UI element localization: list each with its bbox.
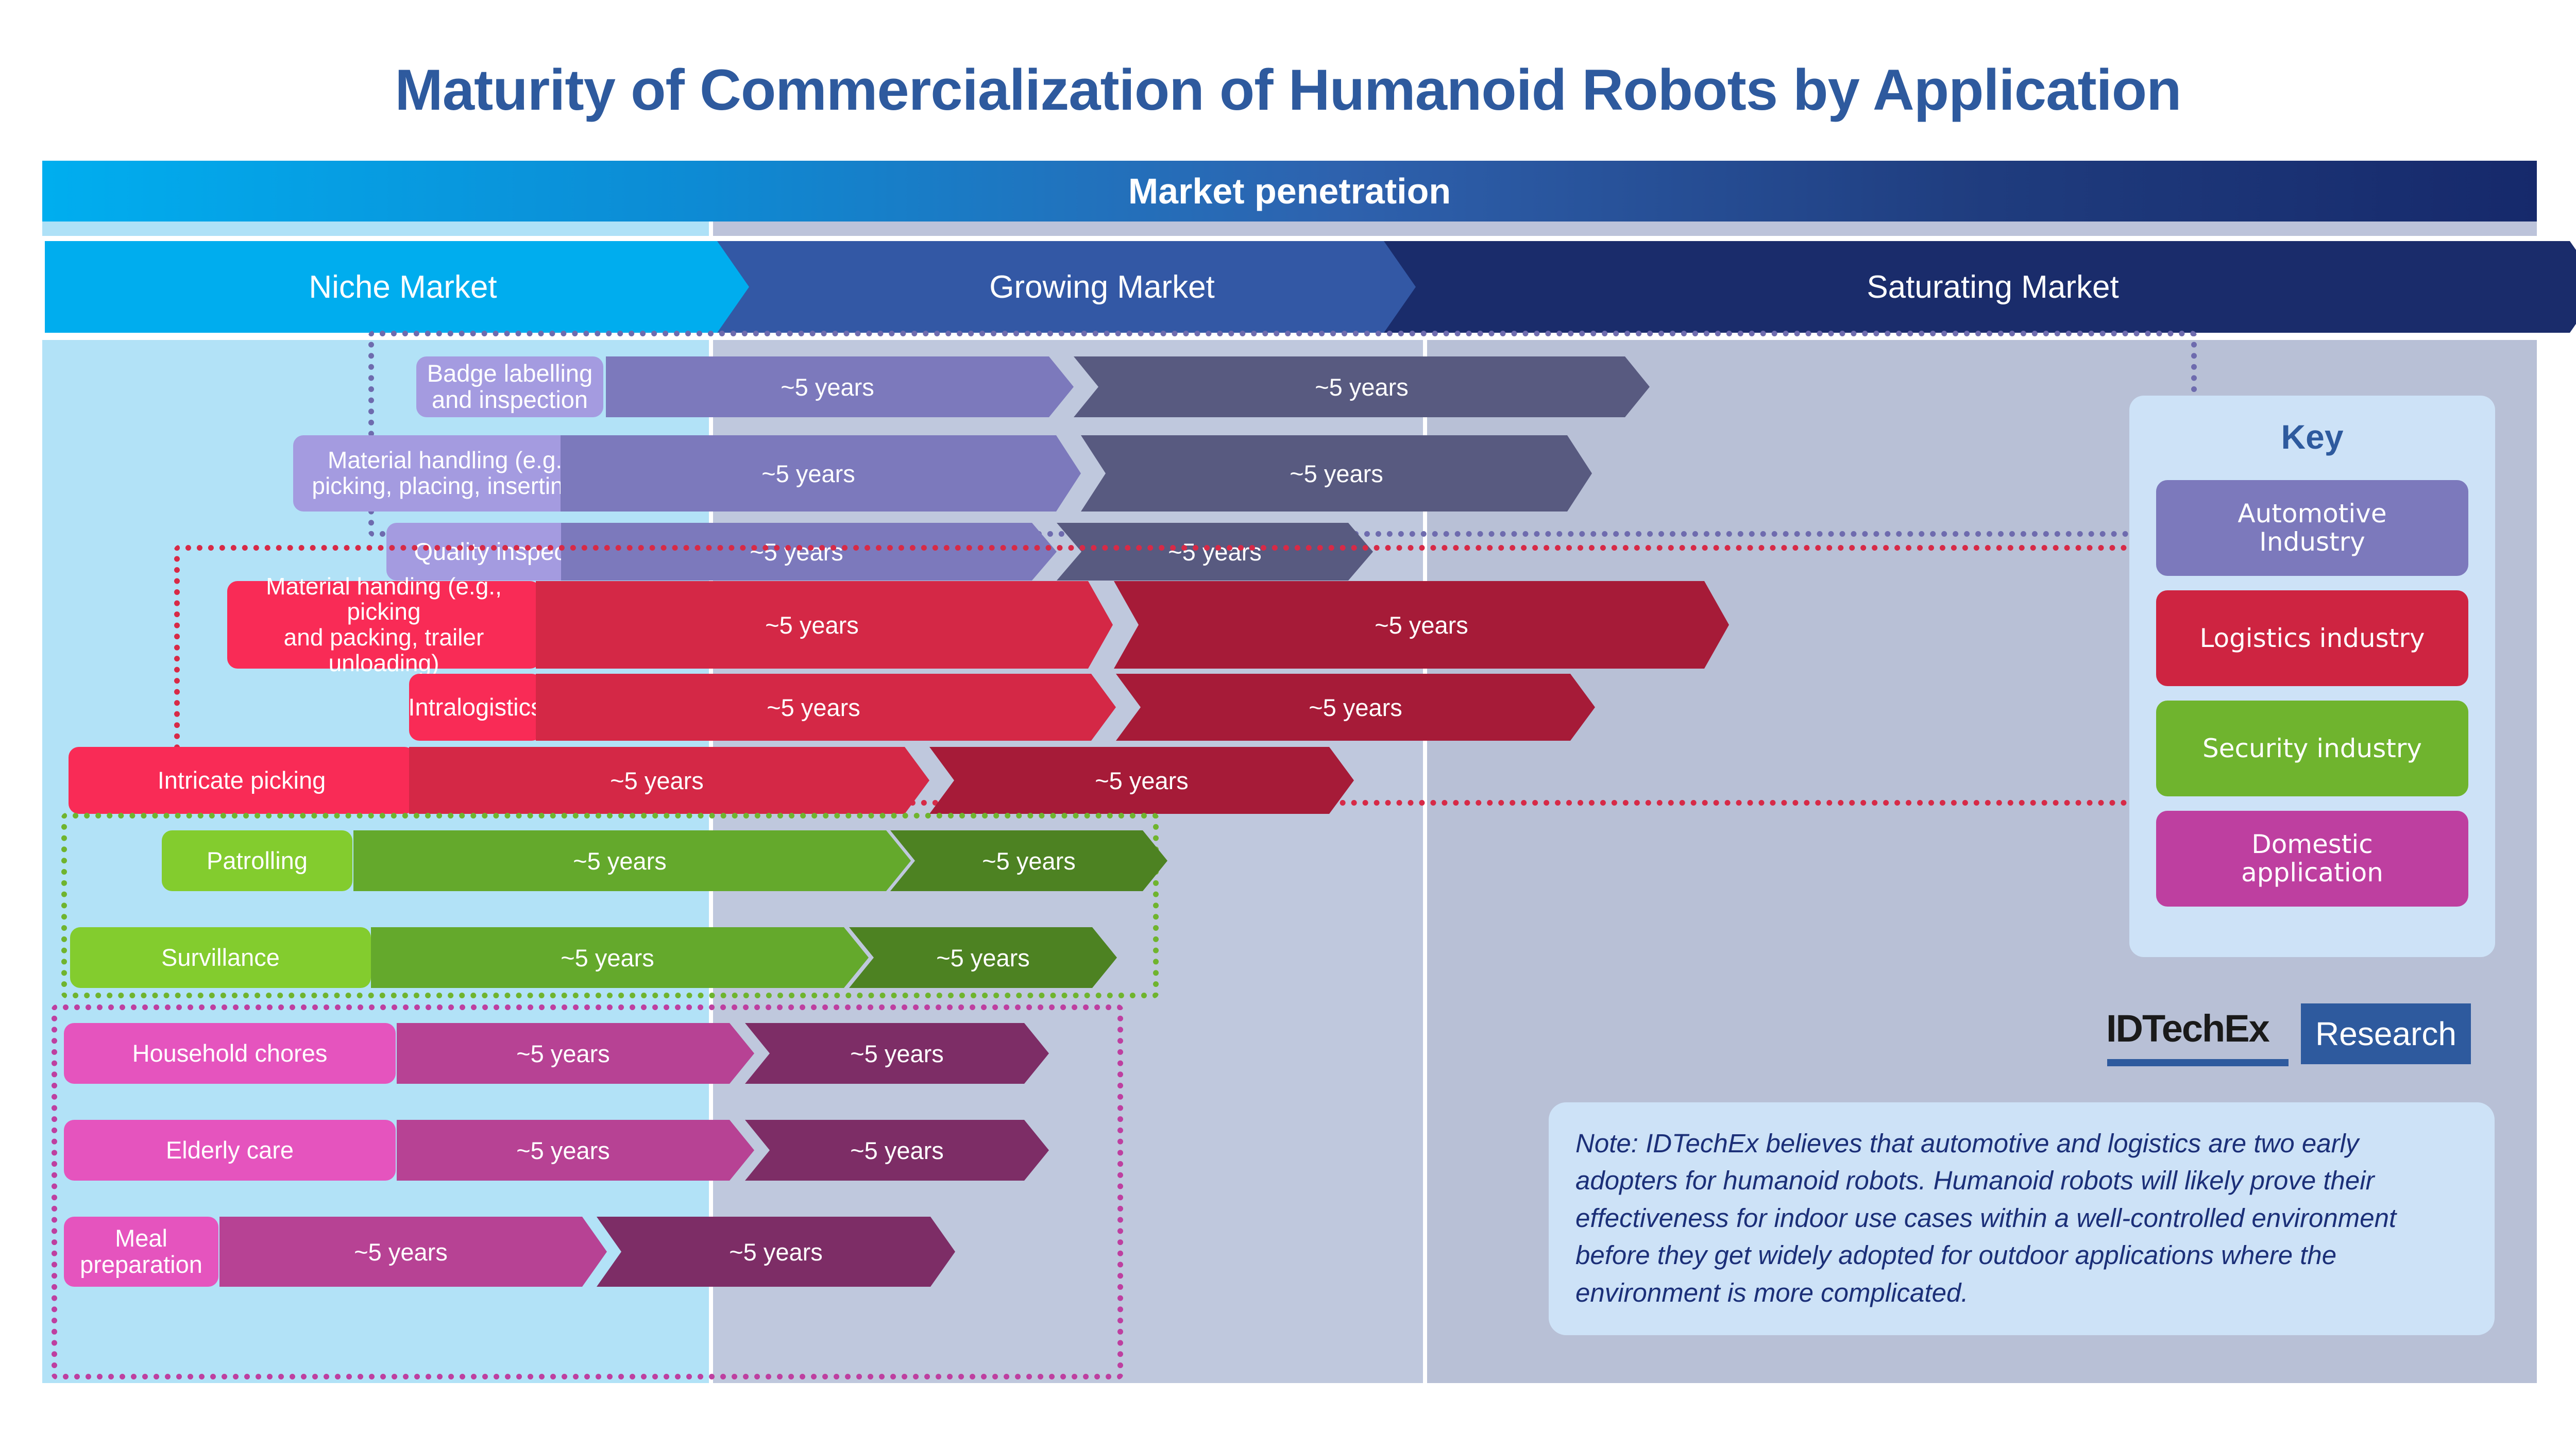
- idtechex-logo[interactable]: IDTechEx Research: [2106, 1003, 2518, 1076]
- row-label-patrolling: Patrolling: [162, 830, 352, 891]
- logo-research-badge: Research: [2301, 1003, 2471, 1064]
- row-label-intralogistics: Intralogistics: [409, 674, 542, 741]
- stage-chevron-saturating[interactable]: Saturating Market: [1384, 241, 2576, 333]
- row-segment-growing: ~5 years: [371, 927, 869, 988]
- stage-chevron-niche[interactable]: Niche Market: [45, 241, 793, 333]
- row-label-meal-preparation: Mealpreparation: [64, 1217, 218, 1287]
- stage-chevron-growing[interactable]: Growing Market: [717, 241, 1487, 333]
- row-segment-growing: ~5 years: [219, 1217, 607, 1287]
- row-segment-saturating: ~5 years: [597, 1217, 955, 1287]
- key-item-domestic[interactable]: Domesticapplication: [2156, 811, 2468, 907]
- row-segment-saturating: ~5 years: [1074, 356, 1650, 417]
- row-segment-growing: ~5 years: [561, 435, 1081, 512]
- row-segment-growing: ~5 years: [606, 356, 1074, 417]
- row-segment-growing: ~5 years: [397, 1120, 754, 1181]
- key-item-security[interactable]: Security industry: [2156, 701, 2468, 796]
- strip-niche: [42, 221, 709, 236]
- page-title: Maturity of Commercialization of Humanoi…: [0, 57, 2576, 123]
- key-item-automotive[interactable]: AutomotiveIndustry: [2156, 480, 2468, 576]
- logo-wordmark: IDTechEx: [2106, 1007, 2269, 1050]
- stage-label-growing: Growing Market: [989, 269, 1215, 305]
- logo-underline: [2107, 1059, 2289, 1066]
- row-segment-saturating: ~5 years: [849, 927, 1117, 988]
- row-segment-saturating: ~5 years: [1116, 674, 1595, 741]
- row-segment-saturating: ~5 years: [1114, 581, 1729, 669]
- row-label-material-handling-auto: Material handling (e.g.,picking, placing…: [293, 435, 603, 512]
- market-penetration-label: Market penetration: [1128, 171, 1451, 212]
- stage-label-saturating: Saturating Market: [1867, 269, 2119, 305]
- row-segment-growing: ~5 years: [536, 581, 1113, 669]
- note-box: Note: IDTechEx believes that automotive …: [1549, 1102, 2495, 1335]
- row-label-household-chores: Household chores: [64, 1023, 396, 1084]
- key-title: Key: [2129, 417, 2495, 456]
- market-penetration-bar: Market penetration: [42, 161, 2537, 221]
- stage-label-niche: Niche Market: [309, 269, 497, 305]
- key-panel: Key AutomotiveIndustry Logistics industr…: [2129, 396, 2495, 957]
- row-label-survillance: Survillance: [70, 927, 371, 988]
- row-segment-saturating: ~5 years: [929, 747, 1354, 814]
- row-segment-saturating: ~5 years: [1081, 435, 1592, 512]
- row-segment-saturating: ~5 years: [890, 830, 1167, 891]
- strip-growing: [713, 221, 2537, 236]
- row-label-intricate-picking: Intricate picking: [69, 747, 415, 814]
- row-segment-growing: ~5 years: [353, 830, 911, 891]
- infographic-canvas: Maturity of Commercialization of Humanoi…: [0, 0, 2576, 1449]
- key-item-logistics[interactable]: Logistics industry: [2156, 590, 2468, 686]
- row-segment-saturating: ~5 years: [745, 1023, 1049, 1084]
- row-segment-growing: ~5 years: [397, 1023, 754, 1084]
- row-label-badge-labelling: Badge labellingand inspection: [416, 356, 603, 417]
- row-segment-growing: ~5 years: [536, 674, 1116, 741]
- row-segment-growing: ~5 years: [409, 747, 929, 814]
- row-label-elderly-care: Elderly care: [64, 1120, 396, 1181]
- row-label-material-handing-log: Material handing (e.g., pickingand packi…: [227, 581, 540, 669]
- row-segment-saturating: ~5 years: [745, 1120, 1049, 1181]
